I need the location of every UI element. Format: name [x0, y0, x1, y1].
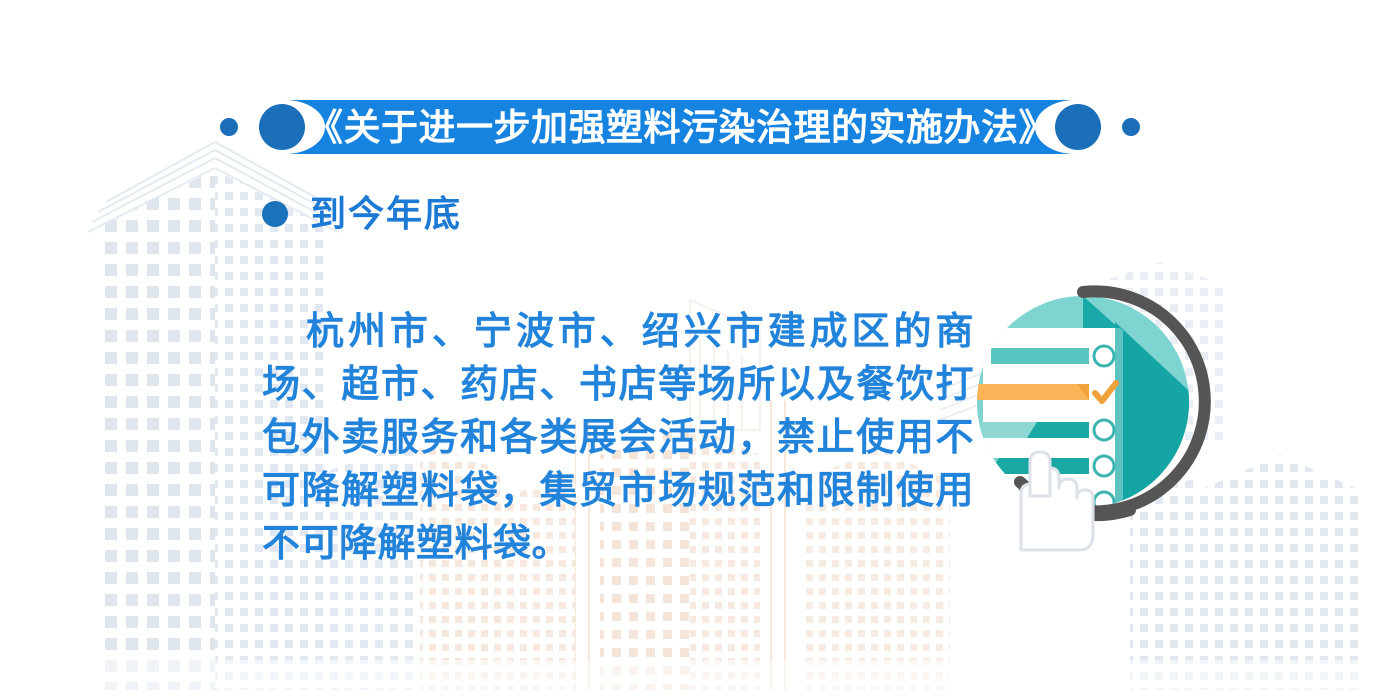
subheading-label: 到今年底	[310, 196, 462, 232]
bullet-dot-icon	[262, 201, 288, 227]
checklist-circle-illustration	[965, 282, 1225, 552]
checklist-row-bar-2	[977, 384, 1089, 400]
page-title: 《关于进一步加强塑料污染治理的实施办法》	[200, 96, 1160, 158]
checklist-row-bar-1	[991, 348, 1089, 364]
subheading: 到今年底	[262, 196, 462, 232]
body-paragraph: 杭州市、宁波市、绍兴市建成区的商场、超市、药店、书店等场所以及餐饮打包外卖服务和…	[262, 306, 974, 571]
title-banner: 《关于进一步加强塑料污染治理的实施办法》	[200, 96, 1160, 158]
